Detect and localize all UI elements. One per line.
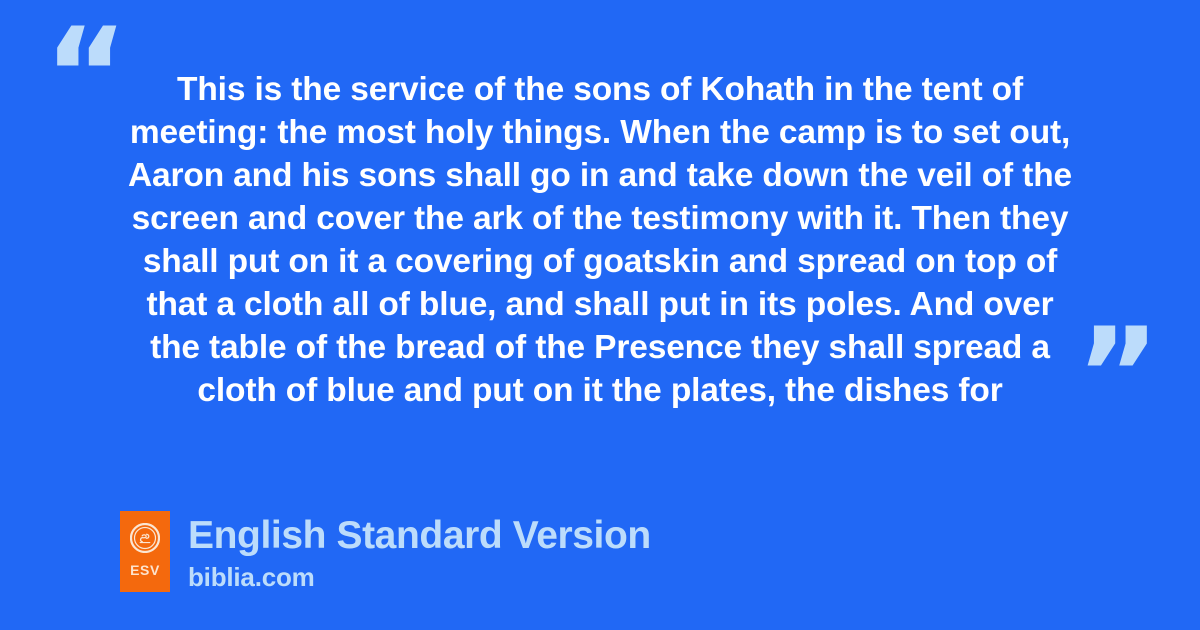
attribution-text-block: English Standard Version biblia.com	[188, 511, 651, 592]
open-quote-icon: “	[44, 12, 126, 140]
esv-logo-label: ESV	[120, 563, 170, 577]
quote-line: the table of the bread of the Presence t…	[118, 326, 1082, 369]
quote-line: shall put on it a covering of goatskin a…	[118, 240, 1082, 283]
quote-line: cloth of blue and put on it the plates, …	[118, 369, 1082, 412]
quote-line: that a cloth all of blue, and shall put …	[118, 283, 1082, 326]
quote-text-block: This is the service of the sons of Kohat…	[118, 68, 1082, 412]
bible-version-name: English Standard Version	[188, 513, 651, 559]
esv-logo-badge: ESV	[120, 511, 170, 592]
source-site-url[interactable]: biblia.com	[188, 562, 651, 592]
close-quote-icon: ”	[1076, 312, 1158, 440]
verse-quote-card: “ ” This is the service of the sons of K…	[0, 0, 1200, 630]
quote-line: Aaron and his sons shall go in and take …	[118, 154, 1082, 197]
quote-line: This is the service of the sons of Kohat…	[118, 68, 1082, 111]
esv-seal-icon	[130, 523, 160, 553]
attribution-block: ESV English Standard Version biblia.com	[120, 511, 651, 592]
quote-line: screen and cover the ark of the testimon…	[118, 197, 1082, 240]
quote-line: meeting: the most holy things. When the …	[118, 111, 1082, 154]
